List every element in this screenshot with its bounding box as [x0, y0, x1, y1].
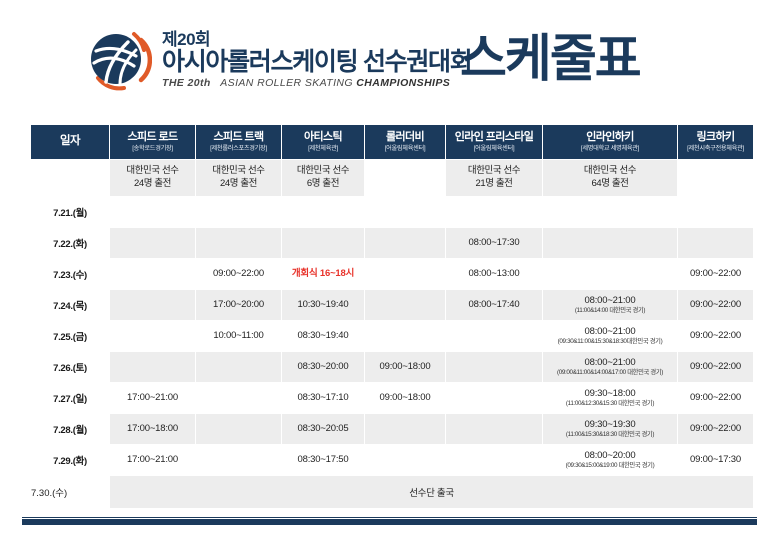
- column-header-speed-road: 스피드 로드 [송학로드경기장]: [110, 125, 195, 159]
- cell-time: 10:30~19:40: [282, 299, 364, 311]
- cell-time: 09:00~22:00: [678, 361, 753, 373]
- column-header-speed-track: 스피드 트랙 [제천롤러스포츠경기장]: [196, 125, 281, 159]
- cell-artistic: 08:30~17:10: [282, 383, 364, 413]
- entries-line1: 대한민국 선수: [543, 165, 677, 178]
- table-row: 7.26.(토) 08:30~20:00 09:00~18:00 08:00~2…: [31, 352, 753, 382]
- cell-speed-track: 10:00~11:00: [196, 321, 281, 351]
- cell-artistic: 10:30~19:40: [282, 290, 364, 320]
- column-title: 스피드 로드: [110, 131, 195, 144]
- row-date: 7.28.(월): [31, 414, 109, 444]
- cell-time: 09:00~22:00: [678, 299, 753, 311]
- entries-line1: 대한민국 선수: [282, 165, 364, 178]
- cell-rink-hockey: 09:00~22:00: [678, 383, 753, 413]
- cell-speed-road: [110, 352, 195, 382]
- event-number: 제20회: [162, 31, 471, 48]
- column-venue: [제천체육관]: [282, 145, 364, 152]
- row-date: 7.27.(일): [31, 383, 109, 413]
- event-name-korean: 아시아롤러스케이팅 선수권대회: [162, 50, 471, 75]
- table-row: 7.24.(목) 17:00~20:00 10:30~19:40 08:00~1…: [31, 290, 753, 320]
- cell-time: 08:30~17:10: [282, 392, 364, 404]
- row-date: 7.24.(목): [31, 290, 109, 320]
- entries-cell-speed-track: 대한민국 선수 24명 출전: [196, 160, 281, 196]
- cell-speed-road: 17:00~18:00: [110, 414, 195, 444]
- entries-cell-roller-derby: [365, 160, 445, 196]
- entries-line2: 24명 출전: [110, 178, 195, 191]
- entries-cell-inline-hockey: 대한민국 선수 64명 출전: [543, 160, 677, 196]
- cell-time: 09:30~19:30: [543, 419, 677, 431]
- cell-time: 09:00~17:30: [678, 454, 753, 466]
- cell-speed-track: [196, 383, 281, 413]
- cell-time: 08:30~20:05: [282, 423, 364, 435]
- row-date: 7.21.(월): [31, 197, 109, 227]
- row-date: 7.23.(수): [31, 259, 109, 289]
- cell-inline-hockey: 08:00~21:00(09:30&11:00&15:30&18:30대한민국 …: [543, 321, 677, 351]
- cell-speed-track: 17:00~20:00: [196, 290, 281, 320]
- cell-inline-hockey: 09:30~18:00(11:00&12:30&15:30 대한민국 경기): [543, 383, 677, 413]
- cell-roller-derby: [365, 321, 445, 351]
- cell-rink-hockey: 09:00~22:00: [678, 290, 753, 320]
- column-title: 일자: [31, 135, 109, 148]
- column-header-inline-freestyle: 인라인 프리스타일 [어울림체육센터]: [446, 125, 542, 159]
- cell-inline-hockey: 09:30~19:30(11:00&15:30&18:30 대한민국 경기): [543, 414, 677, 444]
- cell-speed-track: [196, 352, 281, 382]
- cell-artistic: 08:30~20:00: [282, 352, 364, 382]
- row-date: 7.26.(토): [31, 352, 109, 382]
- entries-cell-artistic: 대한민국 선수 6명 출전: [282, 160, 364, 196]
- cell-artistic: 개회식 16~18시: [282, 259, 364, 289]
- cell-roller-derby: 09:00~18:00: [365, 352, 445, 382]
- cell-roller-derby: [365, 414, 445, 444]
- cell-artistic: [282, 197, 364, 227]
- cell-roller-derby: [365, 445, 445, 475]
- cell-inline-hockey: [543, 228, 677, 258]
- entries-line1: 대한민국 선수: [110, 165, 195, 178]
- cell-time: 08:30~20:00: [282, 361, 364, 373]
- cell-time: 17:00~20:00: [196, 299, 281, 311]
- cell-time: 08:00~17:30: [446, 237, 542, 249]
- event-title-text: 제20회 아시아롤러스케이팅 선수권대회 THE 20th ASIAN ROLL…: [162, 31, 471, 89]
- cell-speed-road: [110, 228, 195, 258]
- cell-inline-freestyle: [446, 383, 542, 413]
- cell-speed-road: [110, 290, 195, 320]
- event-name-en-prefix: THE 20th: [162, 77, 211, 89]
- column-title: 아티스틱: [282, 131, 364, 144]
- entries-cell-inline-freestyle: 대한민국 선수 21명 출전: [446, 160, 542, 196]
- entries-line2: 21명 출전: [446, 178, 542, 191]
- entries-row: 대한민국 선수 24명 출전 대한민국 선수 24명 출전 대한민국 선수 6명…: [31, 160, 753, 196]
- cell-inline-freestyle: [446, 352, 542, 382]
- column-header-date: 일자: [31, 125, 109, 159]
- table-row: 7.21.(월): [31, 197, 753, 227]
- cell-inline-hockey: [543, 197, 677, 227]
- table-header-row: 일자 스피드 로드 [송학로드경기장] 스피드 트랙 [제천롤러스포츠경기장] …: [31, 125, 753, 159]
- cell-time: 17:00~18:00: [110, 423, 195, 435]
- table-row: 7.29.(화) 17:00~21:00 08:30~17:50 08:00~2…: [31, 445, 753, 475]
- page-title: 스케줄표: [460, 33, 640, 84]
- column-venue: [세명대학교 세명체육관]: [543, 145, 677, 152]
- cell-roller-derby: [365, 228, 445, 258]
- cell-note: (09:30&15:00&19:00 대한민국 경기): [543, 462, 677, 470]
- cell-time: 08:00~13:00: [446, 268, 542, 280]
- column-venue: [어울림체육센터]: [365, 145, 445, 152]
- cell-inline-freestyle: 08:00~17:30: [446, 228, 542, 258]
- column-title: 인라인하키: [543, 131, 677, 144]
- cell-inline-freestyle: [446, 197, 542, 227]
- cell-time: 17:00~21:00: [110, 454, 195, 466]
- cell-time: 08:00~21:00: [543, 357, 677, 369]
- cell-inline-hockey: 08:00~21:00(09:00&11:00&14:00&17:00 대한민국…: [543, 352, 677, 382]
- cell-rink-hockey: 09:00~17:30: [678, 445, 753, 475]
- cell-time: 09:00~22:00: [678, 392, 753, 404]
- entries-line1: 대한민국 선수: [446, 165, 542, 178]
- page-header: 제20회 아시아롤러스케이팅 선수권대회 THE 20th ASIAN ROLL…: [0, 0, 779, 118]
- cell-inline-hockey: 08:00~20:00(09:30&15:00&19:00 대한민국 경기): [543, 445, 677, 475]
- cell-speed-track: [196, 414, 281, 444]
- cell-time: 08:00~20:00: [543, 450, 677, 462]
- entries-cell-rink-hockey: [678, 160, 753, 196]
- cell-inline-freestyle: 08:00~17:40: [446, 290, 542, 320]
- event-name-english: THE 20th ASIAN ROLLER SKATING CHAMPIONSH…: [162, 78, 471, 89]
- entries-cell-date: [31, 160, 109, 196]
- cell-rink-hockey: 09:00~22:00: [678, 352, 753, 382]
- cell-inline-freestyle: [446, 414, 542, 444]
- row-date: 7.30.(수): [31, 476, 109, 508]
- table-body: 대한민국 선수 24명 출전 대한민국 선수 24명 출전 대한민국 선수 6명…: [31, 160, 753, 508]
- cell-note: (09:00&11:00&14:00&17:00 대한민국 경기): [543, 369, 677, 377]
- cell-speed-road: [110, 321, 195, 351]
- column-title: 인라인 프리스타일: [446, 131, 542, 144]
- table-row: 7.25.(금) 10:00~11:00 08:30~19:40 08:00~2…: [31, 321, 753, 351]
- entries-line2: 24명 출전: [196, 178, 281, 191]
- column-header-roller-derby: 롤러더비 [어울림체육센터]: [365, 125, 445, 159]
- cell-note: (11:00&14:00 대한민국 경기): [543, 307, 677, 315]
- cell-inline-freestyle: 08:00~13:00: [446, 259, 542, 289]
- cell-time: 08:00~17:40: [446, 299, 542, 311]
- cell-time: 08:00~21:00: [543, 295, 677, 307]
- column-header-artistic: 아티스틱 [제천체육관]: [282, 125, 364, 159]
- cell-roller-derby: 09:00~18:00: [365, 383, 445, 413]
- footer-rule: [22, 518, 757, 525]
- cell-time: 08:00~21:00: [543, 326, 677, 338]
- cell-rink-hockey: 09:00~22:00: [678, 414, 753, 444]
- column-venue: [제천시축구전용체육관]: [678, 145, 753, 152]
- cell-time: 08:30~17:50: [282, 454, 364, 466]
- cell-note: (11:00&12:30&15:30 대한민국 경기): [543, 400, 677, 408]
- cell-artistic: 08:30~20:05: [282, 414, 364, 444]
- row-date: 7.25.(금): [31, 321, 109, 351]
- table-row: 7.27.(일) 17:00~21:00 08:30~17:10 09:00~1…: [31, 383, 753, 413]
- column-venue: [어울림체육센터]: [446, 145, 542, 152]
- cell-speed-track: [196, 228, 281, 258]
- column-title: 링크하키: [678, 131, 753, 144]
- table-row: 7.28.(월) 17:00~18:00 08:30~20:05 09:30~1…: [31, 414, 753, 444]
- cell-inline-freestyle: [446, 445, 542, 475]
- column-title: 스피드 트랙: [196, 131, 281, 144]
- cell-rink-hockey: 09:00~22:00: [678, 321, 753, 351]
- event-name-en-main: ASIAN ROLLER SKATING: [220, 77, 353, 89]
- entries-line1: 대한민국 선수: [196, 165, 281, 178]
- cell-time: 09:00~18:00: [365, 392, 445, 404]
- cell-time: 09:00~22:00: [678, 268, 753, 280]
- cell-speed-track: [196, 197, 281, 227]
- column-header-rink-hockey: 링크하키 [제천시축구전용체육관]: [678, 125, 753, 159]
- cell-inline-hockey: 08:00~21:00(11:00&14:00 대한민국 경기): [543, 290, 677, 320]
- cell-speed-track: [196, 445, 281, 475]
- cell-roller-derby: [365, 197, 445, 227]
- row-date: 7.22.(화): [31, 228, 109, 258]
- cell-inline-freestyle: [446, 321, 542, 351]
- cell-artistic: [282, 228, 364, 258]
- row-date: 7.29.(화): [31, 445, 109, 475]
- table-row: 7.22.(화) 08:00~17:30: [31, 228, 753, 258]
- event-logo-block: 제20회 아시아롤러스케이팅 선수권대회 THE 20th ASIAN ROLL…: [84, 26, 471, 94]
- event-name-en-bold: CHAMPIONSHIPS: [356, 77, 450, 89]
- cell-time: 17:00~21:00: [110, 392, 195, 404]
- championship-logo-icon: [84, 26, 152, 94]
- cell-note: (09:30&11:00&15:30&18:30대한민국 경기): [543, 338, 677, 346]
- cell-speed-road: [110, 259, 195, 289]
- departure-label: 선수단 출국: [110, 476, 753, 508]
- column-venue: [송학로드경기장]: [110, 145, 195, 152]
- cell-note: (11:00&15:30&18:30 대한민국 경기): [543, 431, 677, 439]
- entries-line2: 64명 출전: [543, 178, 677, 191]
- table-head: 일자 스피드 로드 [송학로드경기장] 스피드 트랙 [제천롤러스포츠경기장] …: [31, 125, 753, 159]
- cell-time: 09:00~22:00: [196, 268, 281, 280]
- cell-speed-track: 09:00~22:00: [196, 259, 281, 289]
- cell-roller-derby: [365, 290, 445, 320]
- cell-artistic: 08:30~17:50: [282, 445, 364, 475]
- column-title: 롤러더비: [365, 131, 445, 144]
- cell-time: 09:00~22:00: [678, 330, 753, 342]
- cell-speed-road: 17:00~21:00: [110, 445, 195, 475]
- cell-rink-hockey: 09:00~22:00: [678, 259, 753, 289]
- cell-roller-derby: [365, 259, 445, 289]
- entries-cell-speed-road: 대한민국 선수 24명 출전: [110, 160, 195, 196]
- cell-rink-hockey: [678, 228, 753, 258]
- cell-time: 09:00~18:00: [365, 361, 445, 373]
- cell-time: 10:00~11:00: [196, 330, 281, 342]
- cell-inline-hockey: [543, 259, 677, 289]
- schedule-table: 일자 스피드 로드 [송학로드경기장] 스피드 트랙 [제천롤러스포츠경기장] …: [30, 124, 754, 509]
- cell-rink-hockey: [678, 197, 753, 227]
- entries-line2: 6명 출전: [282, 178, 364, 191]
- cell-opening-ceremony: 개회식 16~18시: [282, 268, 364, 280]
- cell-time: 09:00~22:00: [678, 423, 753, 435]
- cell-speed-road: 17:00~21:00: [110, 383, 195, 413]
- cell-time: 08:30~19:40: [282, 330, 364, 342]
- column-venue: [제천롤러스포츠경기장]: [196, 145, 281, 152]
- column-header-inline-hockey: 인라인하키 [세명대학교 세명체육관]: [543, 125, 677, 159]
- cell-time: 09:30~18:00: [543, 388, 677, 400]
- cell-artistic: 08:30~19:40: [282, 321, 364, 351]
- departure-row: 7.30.(수) 선수단 출국: [31, 476, 753, 508]
- cell-speed-road: [110, 197, 195, 227]
- table-row: 7.23.(수) 09:00~22:00 개회식 16~18시 08:00~13…: [31, 259, 753, 289]
